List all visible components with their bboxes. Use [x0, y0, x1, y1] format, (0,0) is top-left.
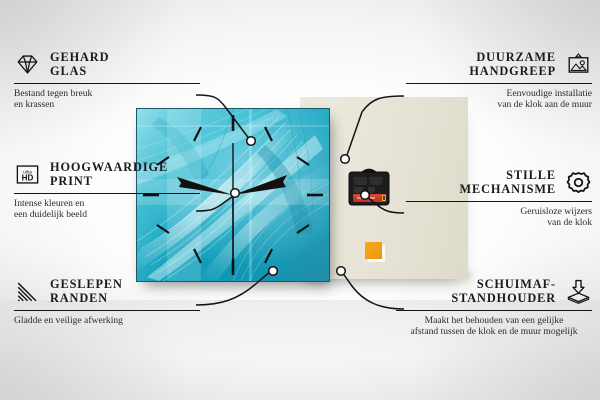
feature-stille-mechanisme: STILLE MECHANISME Geruisloze wijzers van… [406, 168, 592, 229]
feature-description: Geruisloze wijzers van de klok [406, 206, 592, 229]
feature-header: DUURZAME HANDGREEP [406, 50, 592, 79]
feature-rule [396, 310, 592, 311]
feature-desc-line2: een duidelijk beeld [14, 209, 200, 221]
feature-title-line1: SCHUIMAF- [451, 277, 556, 291]
feature-rule [406, 83, 592, 84]
feature-description: Intense kleuren en een duidelijk beeld [14, 198, 200, 221]
feature-title-line1: DUURZAME [469, 50, 556, 64]
gear-icon [565, 169, 592, 196]
feature-description: Eenvoudige installatie van de klok aan d… [406, 88, 592, 111]
feature-title-line2: STANDHOUDER [451, 291, 556, 305]
feature-desc-line1: Bestand tegen breuk [14, 88, 200, 100]
feature-title-line2: PRINT [50, 174, 168, 188]
feature-title-line1: GESLEPEN [50, 277, 123, 291]
ultra-hd-icon: ultra HD [14, 161, 41, 188]
feature-desc-line2: en krassen [14, 99, 200, 111]
feature-title: STILLE MECHANISME [460, 168, 556, 197]
feature-title-line1: HOOGWAARDIGE [50, 160, 168, 174]
feature-header: ultra HD HOOGWAARDIGE PRINT [14, 160, 200, 189]
feature-desc-line2: van de klok [406, 217, 592, 229]
feature-desc-line1: Gladde en veilige afwerking [14, 315, 200, 327]
feature-title-line2: RANDEN [50, 291, 123, 305]
feature-title-line2: HANDGREEP [469, 64, 556, 78]
infographic-canvas: GEHARD GLAS Bestand tegen breuk en krass… [0, 0, 600, 400]
feature-title-line1: GEHARD [50, 50, 109, 64]
feature-header: GEHARD GLAS [14, 50, 200, 79]
feature-desc-line2: van de klok aan de muur [406, 99, 592, 111]
hatched-edge-icon [14, 278, 41, 305]
feature-header: GESLEPEN RANDEN [14, 277, 200, 306]
press-down-pad-icon [565, 278, 592, 305]
feature-description: Maakt het behouden van een gelijke afsta… [396, 315, 592, 338]
feature-rule [406, 201, 592, 202]
feature-title: HOOGWAARDIGE PRINT [50, 160, 168, 189]
feature-duurzame-handgreep: DUURZAME HANDGREEP Eenvoudige installati… [406, 50, 592, 111]
feature-title: GESLEPEN RANDEN [50, 277, 123, 306]
feature-title: DUURZAME HANDGREEP [469, 50, 556, 79]
feature-rule [14, 193, 200, 194]
feature-title-line2: GLAS [50, 64, 109, 78]
feature-desc-line2: afstand tussen de klok en de muur mogeli… [396, 326, 592, 338]
feature-header: STILLE MECHANISME [406, 168, 592, 197]
feature-title-line2: MECHANISME [460, 182, 556, 196]
feature-header: SCHUIMAF- STANDHOUDER [396, 277, 592, 306]
foam-spacer-pad [365, 242, 382, 259]
feature-gehard-glas: GEHARD GLAS Bestand tegen breuk en krass… [14, 50, 200, 111]
feature-desc-line1: Intense kleuren en [14, 198, 200, 210]
feature-desc-line1: Geruisloze wijzers [406, 206, 592, 218]
feature-rule [14, 83, 200, 84]
feature-title: GEHARD GLAS [50, 50, 109, 79]
feature-title: SCHUIMAF- STANDHOUDER [451, 277, 556, 306]
feature-description: Gladde en veilige afwerking [14, 315, 200, 327]
feature-schuimaf-standhouder: SCHUIMAF- STANDHOUDER Maakt het behouden… [396, 277, 592, 338]
feature-description: Bestand tegen breuk en krassen [14, 88, 200, 111]
feature-hoogwaardige-print: ultra HD HOOGWAARDIGE PRINT Intense kleu… [14, 160, 200, 221]
feature-desc-line1: Maakt het behouden van een gelijke [396, 315, 592, 327]
feature-title-line1: STILLE [460, 168, 556, 182]
picture-frame-icon [565, 51, 592, 78]
feature-rule [14, 310, 200, 311]
feature-desc-line1: Eenvoudige installatie [406, 88, 592, 100]
feature-geslepen-randen: GESLEPEN RANDEN Gladde en veilige afwerk… [14, 277, 200, 326]
ultra-hd-big-label: HD [22, 174, 34, 183]
diamond-icon [14, 51, 41, 78]
clock-mechanism [346, 166, 392, 208]
